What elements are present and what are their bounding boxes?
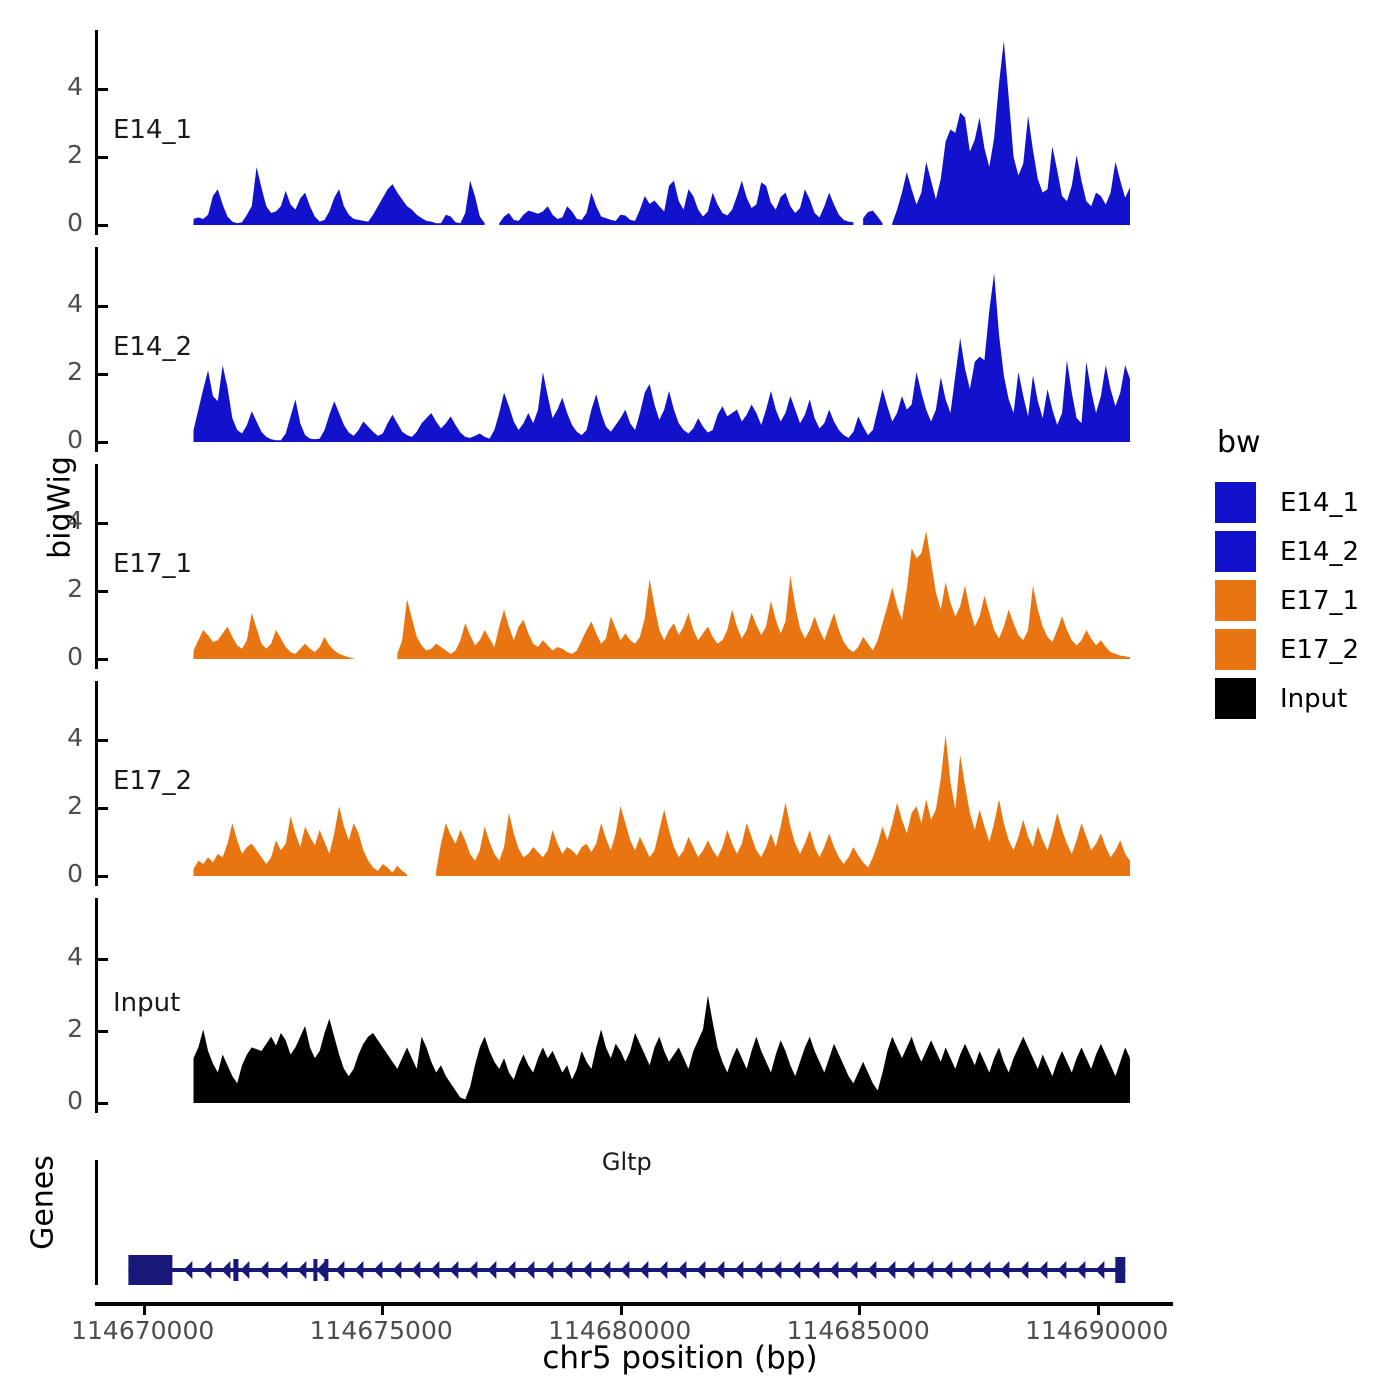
strand-arrow-left-icon (392, 1261, 401, 1279)
strand-arrow-left-icon (582, 1261, 591, 1279)
strand-arrow-left-icon (943, 1261, 952, 1279)
y-axis-label-genes: Genes (26, 1088, 61, 1318)
x-tick-label: 114675000 (271, 1316, 491, 1345)
legend-items: E14_1E14_2E17_1E17_2Input (1215, 478, 1359, 723)
x-tick-label: 114680000 (510, 1316, 730, 1345)
strand-arrow-left-icon (791, 1261, 800, 1279)
y-tick-label: 4 (23, 289, 83, 318)
y-tick-label: 2 (23, 574, 83, 603)
legend: bw E14_1E14_2E17_1E17_2Input (1215, 425, 1359, 723)
y-tick-label: 2 (23, 791, 83, 820)
gene-model (95, 1160, 1185, 1285)
strand-arrow-left-icon (430, 1261, 439, 1279)
y-tick-label: 4 (23, 506, 83, 535)
x-tick-label: 114690000 (987, 1316, 1207, 1345)
y-tick-label: 2 (23, 140, 83, 169)
strand-arrow-left-icon (620, 1261, 629, 1279)
signal-area (95, 464, 1173, 669)
legend-swatch (1215, 531, 1256, 572)
strand-arrow-left-icon (962, 1261, 971, 1279)
strand-arrow-left-icon (658, 1261, 667, 1279)
gene-exon-block (1115, 1257, 1125, 1283)
gene-exon-block (128, 1255, 172, 1285)
legend-label: E14_1 (1280, 488, 1359, 518)
strand-arrow-left-icon (1076, 1261, 1085, 1279)
gene-panel: Gltp (95, 1160, 1185, 1289)
signal-area (95, 247, 1173, 452)
y-tick-label: 2 (23, 1014, 83, 1043)
y-tick-label: 2 (23, 357, 83, 386)
strand-arrow-left-icon (886, 1261, 895, 1279)
y-tick-label: 4 (23, 723, 83, 752)
gene-exon-block (324, 1259, 328, 1281)
legend-label: E14_2 (1280, 537, 1359, 567)
x-tick (1097, 1306, 1100, 1315)
strand-arrow-left-icon (240, 1261, 249, 1279)
strand-arrow-left-icon (601, 1261, 610, 1279)
strand-arrow-left-icon (183, 1261, 192, 1279)
strand-arrow-left-icon (221, 1261, 230, 1279)
strand-arrow-left-icon (1095, 1261, 1104, 1279)
signal-area (95, 898, 1173, 1113)
track-panel-e14_1: 024E14_1 (95, 30, 1173, 235)
x-axis-line (95, 1302, 1173, 1306)
strand-arrow-left-icon (1000, 1261, 1009, 1279)
track-panel-input: 024Input (95, 898, 1173, 1113)
x-tick (381, 1306, 384, 1315)
gene-exon-block (233, 1259, 238, 1281)
x-tick (858, 1306, 861, 1315)
strand-arrow-left-icon (449, 1261, 458, 1279)
track-panel-e14_2: 024E14_2 (95, 247, 1173, 452)
legend-label: E17_2 (1280, 635, 1359, 665)
legend-title: bw (1217, 425, 1359, 460)
strand-arrow-left-icon (563, 1261, 572, 1279)
strand-arrow-left-icon (544, 1261, 553, 1279)
x-tick (143, 1306, 146, 1315)
strand-arrow-left-icon (905, 1261, 914, 1279)
y-tick-label: 0 (23, 642, 83, 671)
legend-item-e14_1[interactable]: E14_1 (1215, 478, 1359, 527)
track-panel-e17_2: 024E17_2 (95, 681, 1173, 886)
y-tick-label: 0 (23, 425, 83, 454)
strand-arrow-left-icon (335, 1261, 344, 1279)
gene-exon-block (313, 1259, 317, 1281)
legend-swatch (1215, 482, 1256, 523)
gene-name-label: Gltp (527, 1148, 727, 1176)
strand-arrow-left-icon (772, 1261, 781, 1279)
gene-axis-spine (95, 1160, 98, 1285)
x-tick (620, 1306, 623, 1315)
strand-arrow-left-icon (734, 1261, 743, 1279)
strand-arrow-left-icon (1019, 1261, 1028, 1279)
strand-arrow-left-icon (202, 1261, 211, 1279)
strand-arrow-left-icon (1038, 1261, 1047, 1279)
x-tick-label: 114670000 (33, 1316, 253, 1345)
y-tick-label: 4 (23, 72, 83, 101)
strand-arrow-left-icon (468, 1261, 477, 1279)
strand-arrow-left-icon (506, 1261, 515, 1279)
y-tick-label: 0 (23, 1086, 83, 1115)
strand-arrow-left-icon (924, 1261, 933, 1279)
genome-browser-figure: bigWig Genes chr5 position (bp) 024E14_1… (0, 0, 1400, 1400)
legend-item-e17_1[interactable]: E17_1 (1215, 576, 1359, 625)
legend-swatch (1215, 629, 1256, 670)
y-tick-label: 4 (23, 942, 83, 971)
strand-arrow-left-icon (677, 1261, 686, 1279)
track-panel-e17_1: 024E17_1 (95, 464, 1173, 669)
x-tick-label: 114685000 (748, 1316, 968, 1345)
strand-arrow-left-icon (354, 1261, 363, 1279)
legend-item-e14_2[interactable]: E14_2 (1215, 527, 1359, 576)
strand-arrow-left-icon (297, 1261, 306, 1279)
legend-item-e17_2[interactable]: E17_2 (1215, 625, 1359, 674)
strand-arrow-left-icon (259, 1261, 268, 1279)
strand-arrow-left-icon (373, 1261, 382, 1279)
strand-arrow-left-icon (981, 1261, 990, 1279)
strand-arrow-left-icon (810, 1261, 819, 1279)
legend-label: E17_1 (1280, 586, 1359, 616)
strand-arrow-left-icon (753, 1261, 762, 1279)
strand-arrow-left-icon (829, 1261, 838, 1279)
strand-arrow-left-icon (696, 1261, 705, 1279)
strand-arrow-left-icon (316, 1261, 325, 1279)
signal-area (95, 681, 1173, 886)
signal-area (95, 30, 1173, 235)
y-tick-label: 0 (23, 208, 83, 237)
strand-arrow-left-icon (715, 1261, 724, 1279)
strand-arrow-left-icon (848, 1261, 857, 1279)
legend-swatch (1215, 678, 1256, 719)
legend-swatch (1215, 580, 1256, 621)
strand-arrow-left-icon (525, 1261, 534, 1279)
strand-arrow-left-icon (1057, 1261, 1066, 1279)
strand-arrow-left-icon (411, 1261, 420, 1279)
strand-arrow-left-icon (278, 1261, 287, 1279)
legend-item-input[interactable]: Input (1215, 674, 1359, 723)
y-tick-label: 0 (23, 859, 83, 888)
x-axis-label: chr5 position (bp) (300, 1340, 1060, 1376)
strand-arrow-left-icon (867, 1261, 876, 1279)
legend-label: Input (1280, 684, 1347, 714)
strand-arrow-left-icon (639, 1261, 648, 1279)
strand-arrow-left-icon (487, 1261, 496, 1279)
